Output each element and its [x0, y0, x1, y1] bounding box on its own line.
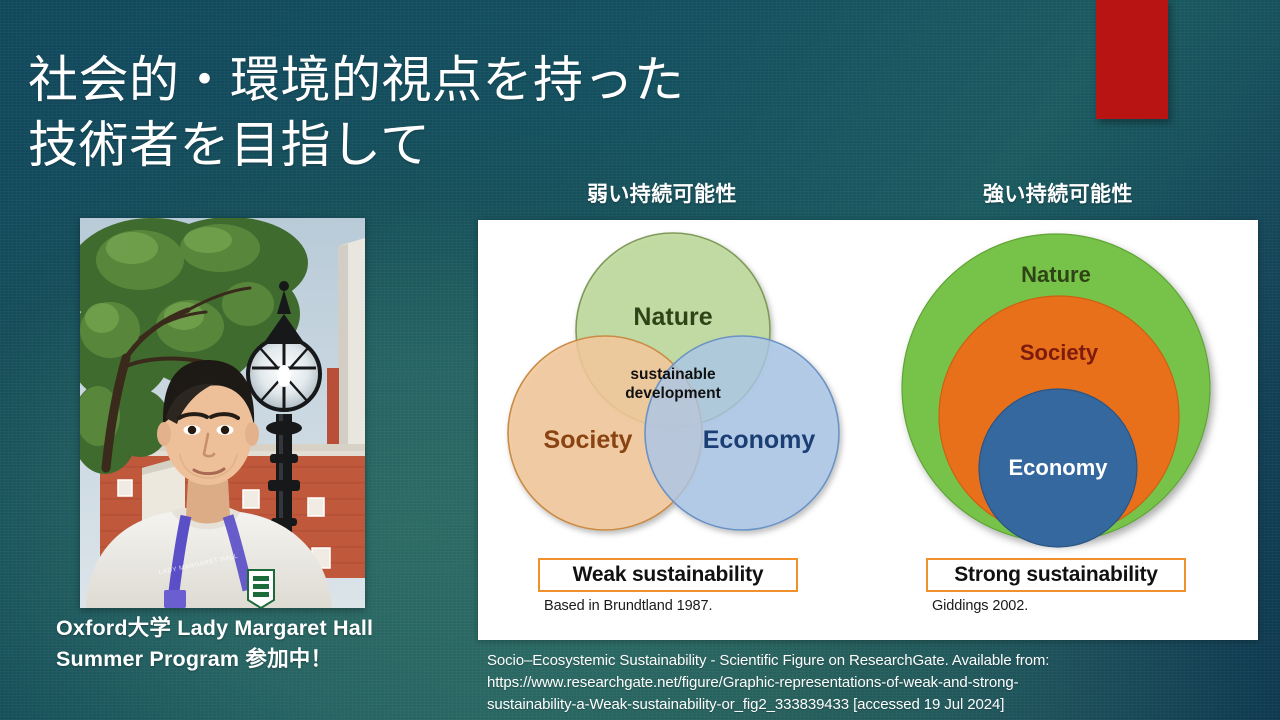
presentation-slide: 社会的・環境的視点を持った 技術者を目指して — [0, 0, 1280, 720]
photo-artwork: LADY MARGARET HALL — [80, 218, 365, 608]
strong-sustainability-source: Giddings 2002. — [932, 598, 1028, 614]
weak-sustainability-label: Weak sustainability — [538, 558, 798, 592]
venn-label-economy: Economy — [703, 426, 816, 454]
figure-citation: Socio–Ecosystemic Sustainability - Scien… — [487, 650, 1187, 716]
sustainability-figure-panel: Nature Society Economy sustainable devel… — [478, 220, 1258, 640]
strong-sustainability-label: Strong sustainability — [926, 558, 1186, 592]
nested-label-economy: Economy — [1008, 455, 1108, 480]
photo-caption: Oxford大学 Lady Margaret Hall Summer Progr… — [56, 613, 486, 674]
venn-label-nature: Nature — [633, 303, 712, 331]
venn-center-label-line2: development — [625, 385, 721, 402]
nested-label-nature: Nature — [1021, 262, 1091, 287]
heading-weak-sustainability: 弱い持続可能性 — [587, 178, 737, 208]
strong-sustainability-diagram: Nature Society Economy Strong sustainabi… — [868, 220, 1258, 640]
venn-label-society: Society — [544, 426, 633, 454]
oxford-lmh-selfie-photo: LADY MARGARET HALL — [80, 218, 365, 608]
nested-circles-svg: Nature Society Economy — [868, 220, 1258, 560]
weak-sustainability-source: Based in Brundtland 1987. — [544, 598, 712, 614]
heading-strong-sustainability: 強い持続可能性 — [983, 178, 1133, 208]
nested-label-society: Society — [1020, 340, 1099, 365]
red-accent-bar — [1096, 0, 1168, 119]
venn-diagram-svg: Nature Society Economy sustainable devel… — [478, 220, 868, 560]
venn-center-label-line1: sustainable — [630, 366, 716, 383]
page-title: 社会的・環境的視点を持った 技術者を目指して — [28, 48, 788, 178]
weak-sustainability-diagram: Nature Society Economy sustainable devel… — [478, 220, 868, 640]
